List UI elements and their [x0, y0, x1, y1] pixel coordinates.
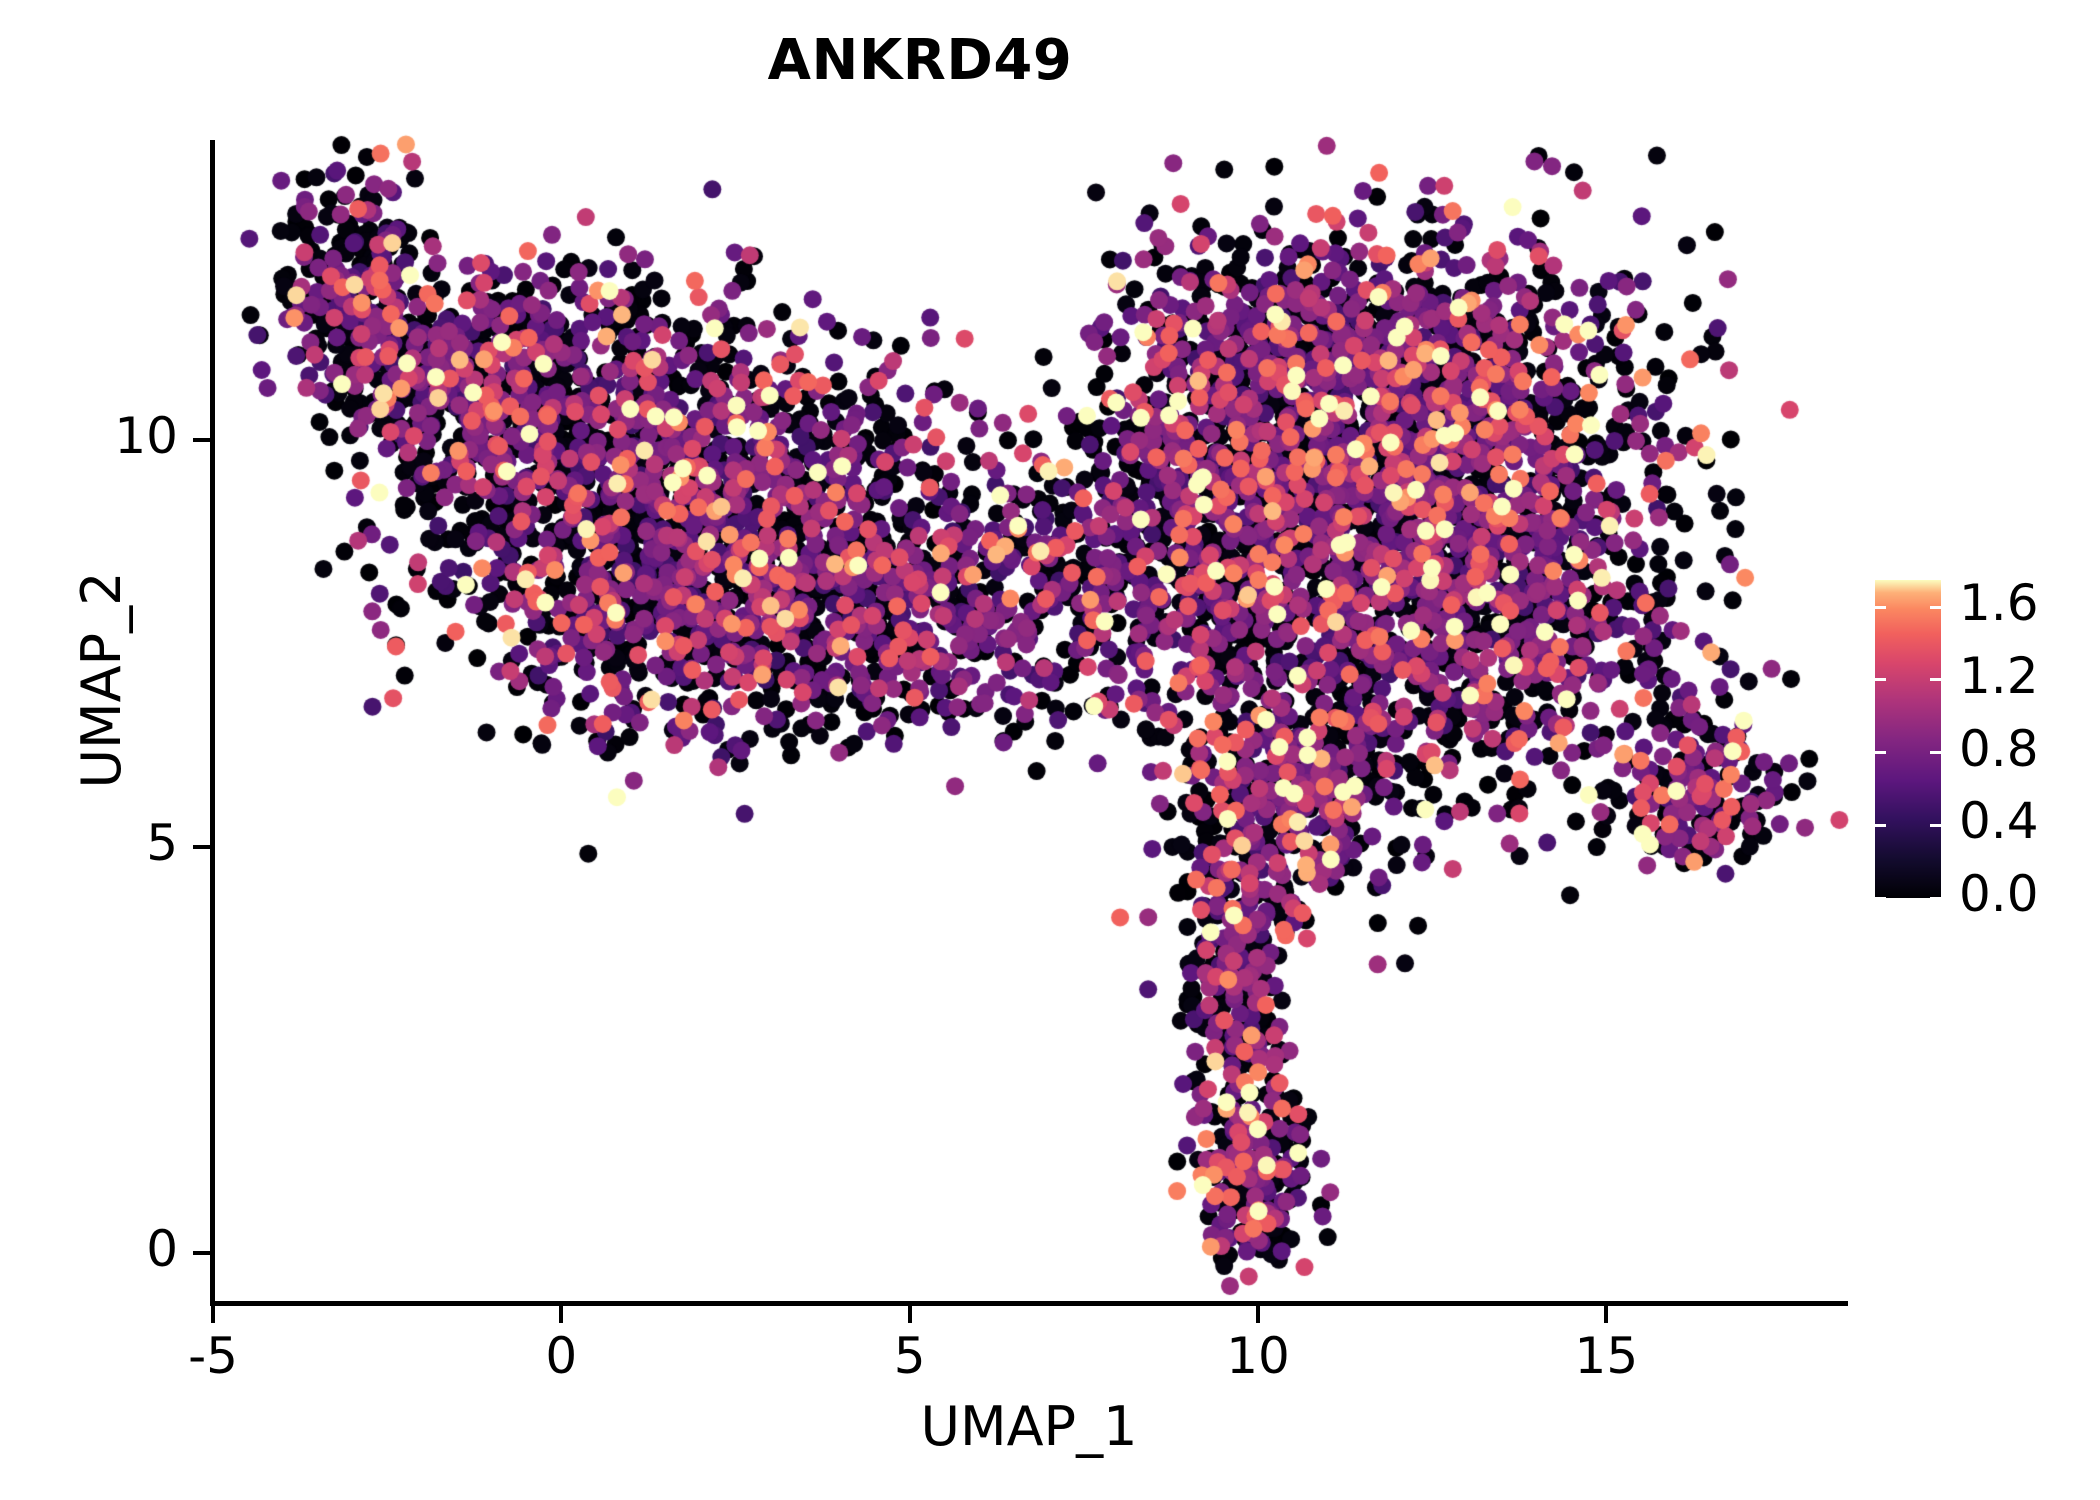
x-axis-label: UMAP_1 [210, 1395, 1848, 1458]
colorbar-tick-mark [1930, 678, 1941, 681]
colorbar: 0.00.40.81.21.6 [1875, 580, 1941, 898]
figure-canvas: ANKRD49 -5051015 0510 UMAP_1 UMAP_2 0.00… [0, 0, 2100, 1500]
colorbar-tick-mark [1930, 897, 1941, 900]
x-tick-label: 0 [481, 1327, 641, 1385]
x-tick-mark [559, 1306, 563, 1323]
colorbar-tick-label: 1.2 [1959, 647, 2100, 705]
colorbar-tick-mark [1930, 606, 1941, 609]
colorbar-tick-label: 0.8 [1959, 720, 2100, 778]
colorbar-tick-label: 0.4 [1959, 792, 2100, 850]
y-tick-mark [193, 438, 210, 442]
x-tick-label: 10 [1178, 1327, 1338, 1385]
x-tick-label: 15 [1526, 1327, 1686, 1385]
colorbar-tick-mark [1875, 751, 1886, 754]
colorbar-tick-mark [1930, 751, 1941, 754]
colorbar-tick-mark [1930, 824, 1941, 827]
colorbar-tick-label: 0.0 [1959, 865, 2100, 923]
x-tick-mark [1604, 1306, 1608, 1323]
x-axis-spine [210, 1301, 1848, 1306]
colorbar-tick-label: 1.6 [1959, 574, 2100, 632]
scatter-plot-canvas [0, 0, 2100, 1500]
colorbar-tick-mark [1875, 606, 1886, 609]
colorbar-gradient [1875, 580, 1941, 898]
y-tick-mark [193, 845, 210, 849]
colorbar-tick-mark [1875, 678, 1886, 681]
x-tick-mark [211, 1306, 215, 1323]
y-tick-mark [193, 1251, 210, 1255]
x-tick-label: -5 [133, 1327, 293, 1385]
colorbar-tick-mark [1875, 824, 1886, 827]
x-tick-label: 5 [830, 1327, 990, 1385]
x-tick-mark [908, 1306, 912, 1323]
x-tick-mark [1256, 1306, 1260, 1323]
colorbar-tick-mark [1875, 897, 1886, 900]
y-axis-label: UMAP_2 [70, 130, 133, 1230]
y-axis-spine [210, 140, 215, 1306]
